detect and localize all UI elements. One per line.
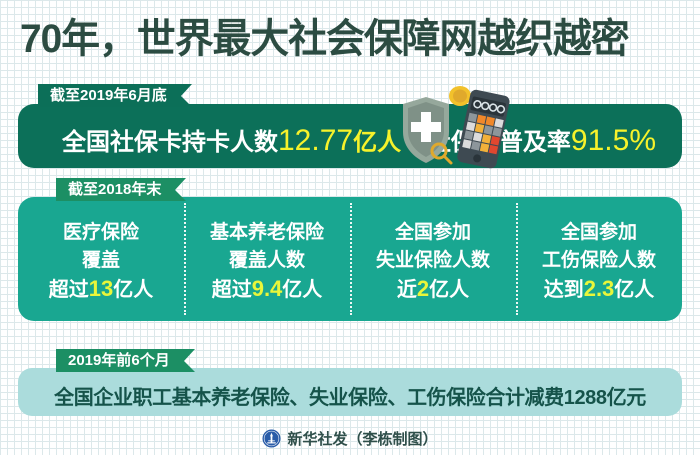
section1-panel: 全国社保卡持卡人数12.77亿人 社保卡普及率91.5% <box>18 104 682 168</box>
card-holders-label: 全国社保卡持卡人数 <box>62 129 278 156</box>
footer-credit: 新华社发（李栋制图） <box>287 428 437 449</box>
stat-card-medical-insurance: 医疗保险 覆盖 超过13亿人 <box>18 197 184 321</box>
stat-card-basic-pension-insurance: 基本养老保险 覆盖人数 超过9.4亿人 <box>184 197 350 321</box>
fee-reduction-statement: 全国企业职工基本养老保险、失业保险、工伤保险合计减费1288亿元 <box>18 381 682 410</box>
section2-panel: 医疗保险 覆盖 超过13亿人 基本养老保险 覆盖人数 超过9.4亿人 全国参加 … <box>18 197 682 321</box>
card-line2: 工伤保险人数 <box>542 248 656 273</box>
card-suffix: 亿人 <box>113 279 153 301</box>
infographic-poster: 70年，世界最大社会保障网越织越密 截至2019年6月底 全国社保卡持卡人数12… <box>0 0 700 455</box>
coin-icon <box>449 86 471 106</box>
stat-card-unemployment-insurance: 全国参加 失业保险人数 近2亿人 <box>350 197 516 321</box>
shield-cross-icon <box>403 97 451 163</box>
card-line1: 医疗保险 <box>63 220 139 245</box>
card-prefix: 超过 <box>49 279 89 301</box>
card-line1: 全国参加 <box>561 220 637 245</box>
card-holders-unit: 亿人 <box>353 129 401 156</box>
card-value: 2 <box>417 276 429 301</box>
card-line2: 覆盖 <box>82 248 120 273</box>
section3-tab-label: 2019年前6个月 <box>56 349 184 372</box>
card-line3: 达到2.3亿人 <box>544 276 655 303</box>
card-line3: 超过9.4亿人 <box>212 276 323 303</box>
card-suffix: 亿人 <box>282 279 322 301</box>
card-holders-value: 12.77 <box>278 124 353 157</box>
section1-icon-cluster <box>395 86 510 172</box>
card-line3: 近2亿人 <box>397 276 469 303</box>
card-line1: 全国参加 <box>395 220 471 245</box>
card-line2: 失业保险人数 <box>376 248 490 273</box>
section2-tab-label: 截至2018年末 <box>56 178 175 201</box>
card-prefix: 近 <box>397 279 417 301</box>
card-line2: 覆盖人数 <box>229 248 305 273</box>
xinhua-logo-icon <box>262 429 281 448</box>
social-security-card-holders-stat: 全国社保卡持卡人数12.77亿人 <box>62 124 401 158</box>
coverage-rate-value: 91.5 <box>571 124 629 157</box>
card-prefix: 达到 <box>544 279 584 301</box>
footer: 新华社发（李栋制图） <box>0 428 700 449</box>
card-value: 2.3 <box>584 276 615 301</box>
card-line3: 超过13亿人 <box>49 276 153 303</box>
card-suffix: 亿人 <box>429 279 469 301</box>
card-suffix: 亿人 <box>614 279 654 301</box>
card-prefix: 超过 <box>212 279 252 301</box>
page-title: 70年，世界最大社会保障网越织越密 <box>20 16 665 62</box>
card-value: 9.4 <box>252 276 283 301</box>
coverage-rate-unit: % <box>629 124 656 157</box>
stat-card-work-injury-insurance: 全国参加 工伤保险人数 达到2.3亿人 <box>516 197 682 321</box>
card-value: 13 <box>89 276 113 301</box>
section1-tab-label: 截至2019年6月底 <box>38 84 181 107</box>
section3-panel: 全国企业职工基本养老保险、失业保险、工伤保险合计减费1288亿元 <box>18 368 682 416</box>
card-line1: 基本养老保险 <box>210 220 324 245</box>
